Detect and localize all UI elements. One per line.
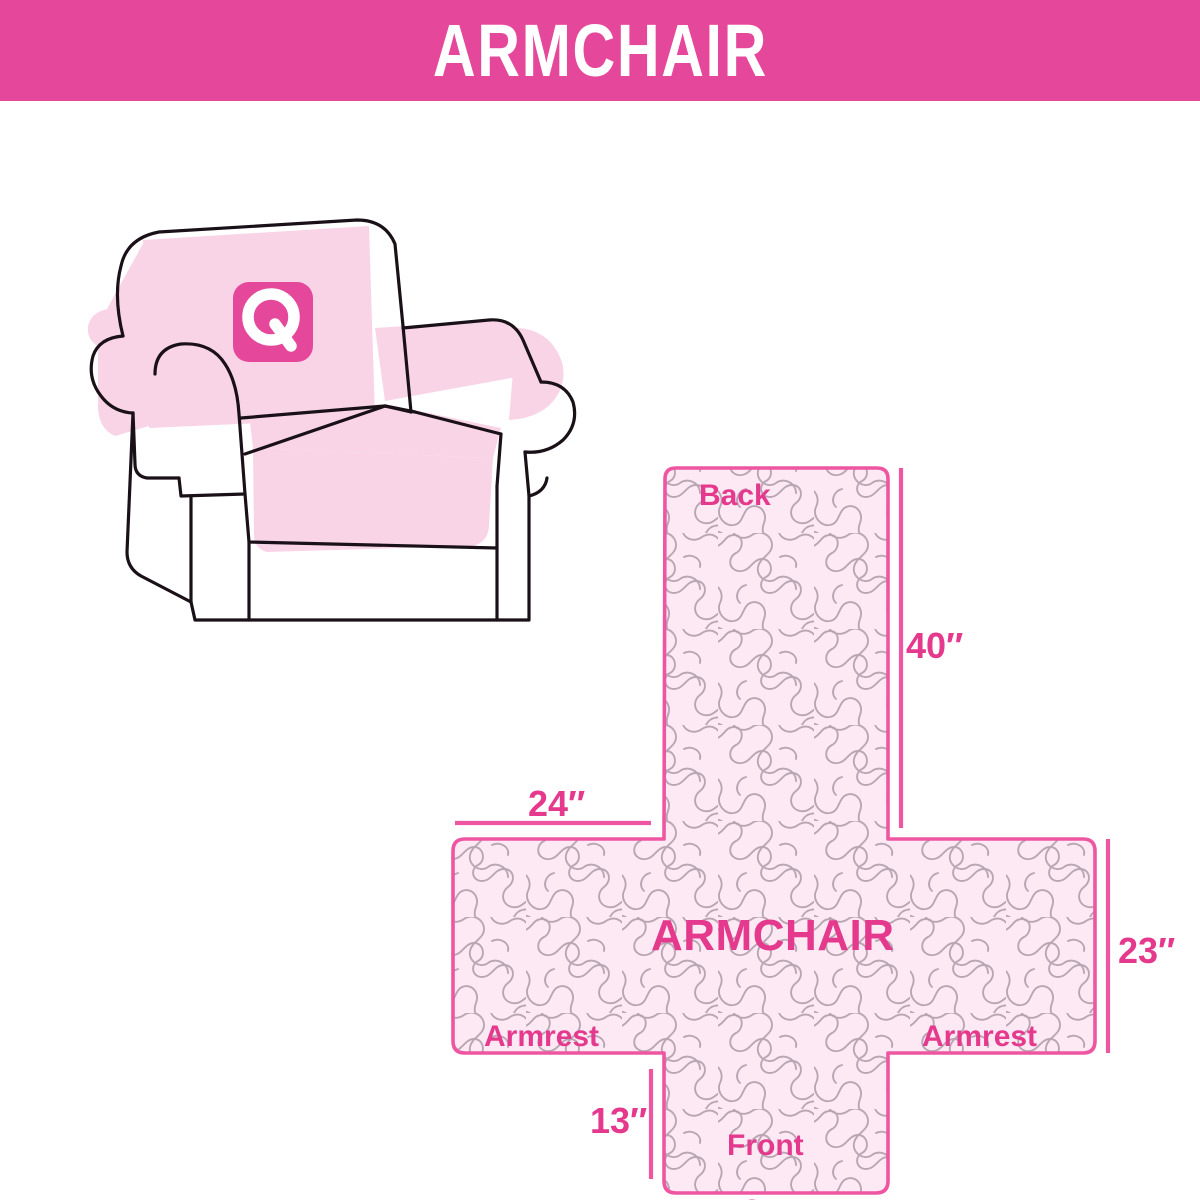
- slipcover-cross-shape: [453, 468, 1095, 1193]
- panel-label-armrest-left: Armrest: [484, 1022, 599, 1052]
- dimension-label-armrest-width: 24″: [528, 786, 585, 822]
- slipcover-pattern-diagram: [430, 341, 1200, 1200]
- panel-label-armrest-right: Armrest: [922, 1022, 1037, 1052]
- chair-body-outline: [127, 413, 191, 602]
- page-title: ARMCHAIR: [432, 14, 767, 88]
- diagram-stage: Back ARMCHAIR Armrest Armrest Front 40″ …: [0, 101, 1200, 1200]
- dimension-label-front-height: 13″: [590, 1103, 647, 1139]
- panel-label-center: ARMCHAIR: [651, 914, 895, 958]
- brand-logo: [233, 282, 313, 362]
- panel-label-front: Front: [727, 1131, 804, 1161]
- dimension-label-center-height: 23″: [1118, 933, 1175, 969]
- dimension-label-back-height: 40″: [906, 628, 963, 664]
- panel-label-back: Back: [699, 481, 771, 511]
- header-banner: ARMCHAIR: [0, 0, 1200, 101]
- size-chart-page: ARMCHAIR: [0, 0, 1200, 1200]
- dimension-label-front-width: 24″: [742, 1195, 799, 1200]
